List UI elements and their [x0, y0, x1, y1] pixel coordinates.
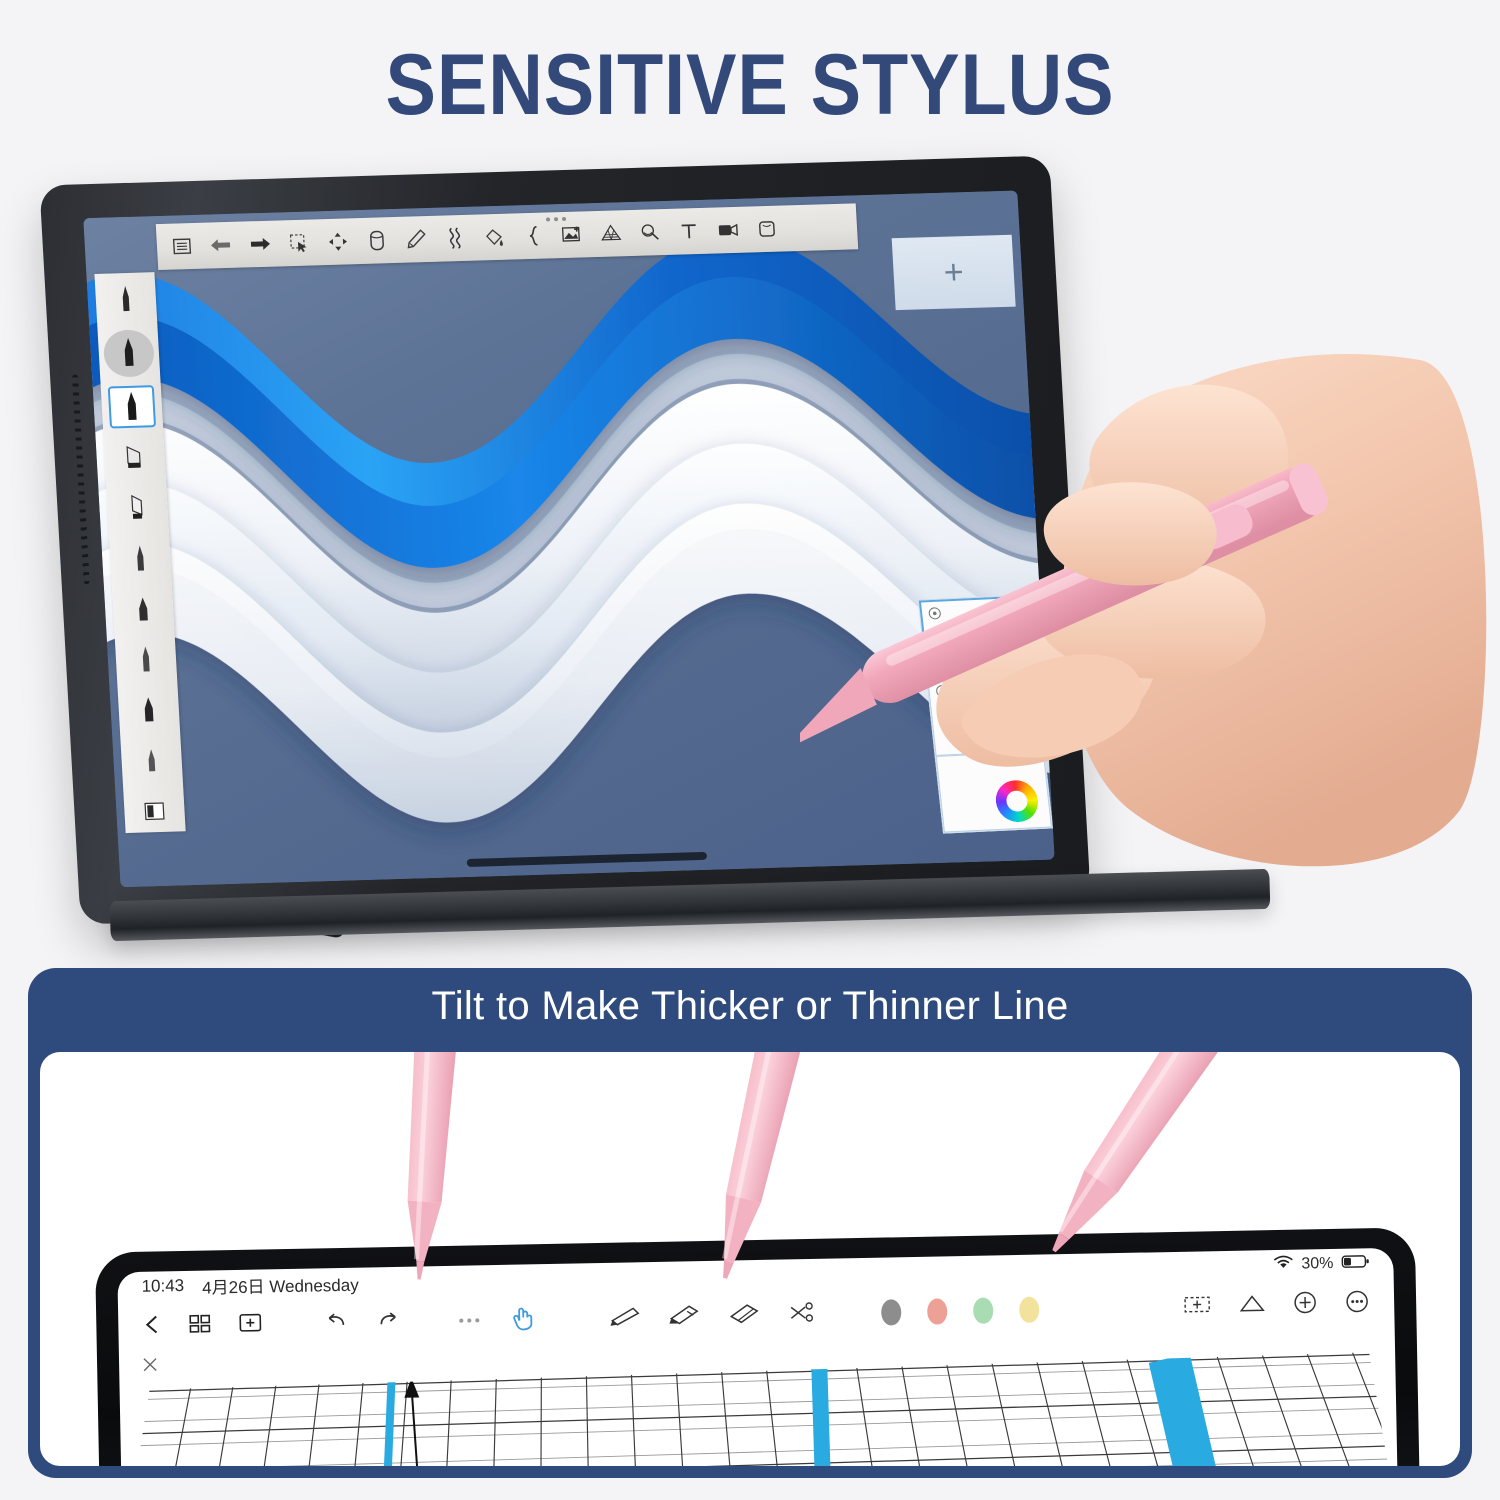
brush-slot-5[interactable] — [116, 537, 164, 580]
page-title: SENSITIVE STYLUS — [90, 42, 1410, 128]
text-icon[interactable] — [669, 212, 709, 251]
stylus-slanted — [700, 1052, 834, 1284]
tilt-stylus-group — [40, 1052, 1460, 1466]
stylus-upright — [395, 1052, 468, 1281]
toolbar-grip-icon[interactable] — [536, 214, 577, 225]
undo-arrow-icon[interactable] — [201, 226, 241, 265]
brush-slot-10[interactable] — [130, 790, 178, 833]
tilt-feature-title: Tilt to Make Thicker or Thinner Line — [28, 984, 1472, 1029]
video-icon[interactable] — [708, 211, 748, 250]
brush-slot-9[interactable] — [128, 739, 176, 782]
brush-slot-3[interactable] — [111, 436, 159, 479]
brush-icon[interactable] — [396, 220, 436, 259]
brush-slot-puck[interactable] — [103, 329, 156, 378]
tilt-demo-panel: 10:43 4月26日 Wednesday 30% — [40, 1052, 1460, 1466]
shape-icon[interactable] — [747, 209, 787, 248]
tilt-feature-card: Tilt to Make Thicker or Thinner Line 10:… — [28, 968, 1472, 1478]
brush-slot-8[interactable] — [125, 689, 173, 732]
move-icon[interactable] — [318, 222, 358, 261]
symmetry-icon[interactable] — [630, 213, 670, 252]
hero-scene: + — [0, 150, 1500, 950]
speaker-grille — [72, 374, 90, 584]
eraser-icon[interactable] — [357, 221, 397, 260]
hand-holding-stylus — [800, 250, 1500, 910]
squiggle-icon[interactable] — [435, 219, 475, 258]
marquee-select-icon[interactable] — [279, 223, 319, 262]
brush-slot-selected[interactable] — [108, 385, 156, 428]
perspective-grid-icon[interactable] — [591, 214, 631, 253]
brush-slot-0[interactable] — [102, 278, 150, 321]
brush-slot-4[interactable] — [113, 487, 161, 530]
brush-slot-7[interactable] — [122, 638, 170, 681]
stylus-tilted — [1031, 1052, 1292, 1267]
product-marketing-image: SENSITIVE STYLUS — [0, 0, 1500, 1500]
brush-slot-6[interactable] — [119, 588, 167, 631]
redo-arrow-icon[interactable] — [240, 224, 280, 263]
menu-list-icon[interactable] — [162, 227, 202, 266]
flood-fill-icon[interactable] — [474, 218, 514, 257]
